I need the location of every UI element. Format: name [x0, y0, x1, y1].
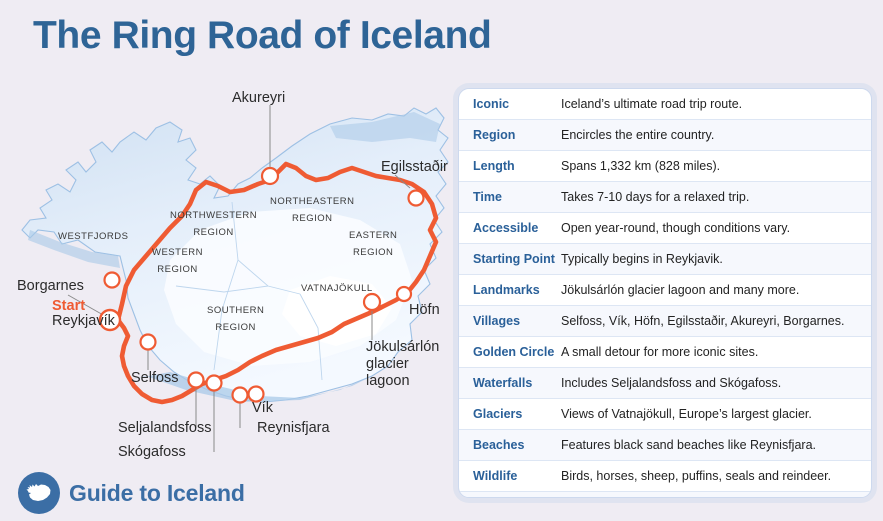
region-label-northwestern: NORTHWESTERN REGION — [170, 207, 257, 241]
row-value: A small detour for more iconic sites. — [561, 344, 871, 360]
table-row: Wildlife Birds, horses, sheep, puffins, … — [459, 461, 871, 492]
row-value: Spans 1,332 km (828 miles). — [561, 158, 871, 174]
row-key: Length — [459, 158, 561, 174]
table-row: Activities Glacier hiking, boat rides, i… — [459, 492, 871, 498]
row-value: Takes 7-10 days for a relaxed trip. — [561, 189, 871, 205]
region-label-westfjords: WESTFJORDS — [58, 228, 128, 245]
landmark-label-skogafoss: Skógafoss — [118, 444, 186, 460]
table-row: Beaches Features black sand beaches like… — [459, 430, 871, 461]
row-key: Villages — [459, 313, 561, 329]
landmark-label-seljalandsfoss: Seljalandsfoss — [118, 420, 212, 436]
table-row: Villages Selfoss, Vík, Höfn, Egilsstaðir… — [459, 306, 871, 337]
row-key: Region — [459, 127, 561, 143]
row-value: Typically begins in Reykjavik. — [561, 251, 871, 267]
row-key: Landmarks — [459, 282, 561, 298]
city-label-borgarnes: Borgarnes — [17, 278, 84, 294]
row-value: Iceland’s ultimate road trip route. — [561, 96, 871, 112]
row-value: Views of Vatnajökull, Europe’s largest g… — [561, 406, 871, 422]
logo-text: Guide to Iceland — [69, 480, 245, 507]
start-label: Start — [52, 298, 85, 314]
page-title: The Ring Road of Iceland — [33, 14, 491, 58]
table-row: Iconic Iceland’s ultimate road trip rout… — [459, 89, 871, 120]
row-key: Golden Circle — [459, 344, 561, 360]
region-label-southern: SOUTHERN REGION — [207, 302, 264, 336]
city-label-selfoss: Selfoss — [131, 370, 179, 386]
table-row: Length Spans 1,332 km (828 miles). — [459, 151, 871, 182]
table-row: Golden Circle A small detour for more ic… — [459, 337, 871, 368]
infographic-page: The Ring Road of Iceland — [0, 0, 883, 521]
row-key: Glaciers — [459, 406, 561, 422]
row-key: Starting Point — [459, 251, 561, 267]
city-label-hofn: Höfn — [409, 302, 440, 318]
region-label-western: WESTERN REGION — [152, 244, 203, 278]
row-value: Features black sand beaches like Reynisf… — [561, 437, 871, 453]
region-label-northeastern: NORTHEASTERN REGION — [270, 193, 354, 227]
city-label-vik: Vík — [252, 400, 273, 416]
row-key: Time — [459, 189, 561, 205]
info-table: Iconic Iceland’s ultimate road trip rout… — [458, 88, 872, 498]
table-row: Accessible Open year-round, though condi… — [459, 213, 871, 244]
row-value: Birds, horses, sheep, puffins, seals and… — [561, 468, 871, 484]
row-value: Encircles the entire country. — [561, 127, 871, 143]
iceland-map: WESTFJORDS NORTHWESTERN REGION NORTHEAST… — [0, 80, 455, 480]
row-value: Open year-round, though conditions vary. — [561, 220, 871, 236]
landmark-label-jokulsarlon: Jökulsárlón glacier lagoon — [366, 339, 439, 390]
city-label-reykjavik: Reykjavík — [52, 313, 115, 329]
row-value: Jökulsárlón glacier lagoon and many more… — [561, 282, 871, 298]
table-row: Starting Point Typically begins in Reykj… — [459, 244, 871, 275]
region-label-eastern: EASTERN REGION — [349, 227, 397, 261]
table-row: Region Encircles the entire country. — [459, 120, 871, 151]
iceland-silhouette-icon — [18, 472, 60, 514]
table-row: Glaciers Views of Vatnajökull, Europe’s … — [459, 399, 871, 430]
table-row: Time Takes 7-10 days for a relaxed trip. — [459, 182, 871, 213]
city-label-egilsstadir: Egilsstaðir — [381, 159, 448, 175]
landmark-label-reynisfjara: Reynisfjara — [257, 420, 330, 436]
brand-logo[interactable]: Guide to Iceland — [18, 472, 245, 514]
row-key: Waterfalls — [459, 375, 561, 391]
row-key: Iconic — [459, 96, 561, 112]
city-label-akureyri: Akureyri — [232, 90, 285, 106]
table-row: Landmarks Jökulsárlón glacier lagoon and… — [459, 275, 871, 306]
table-row: Waterfalls Includes Seljalandsfoss and S… — [459, 368, 871, 399]
row-key: Accessible — [459, 220, 561, 236]
row-value: Selfoss, Vík, Höfn, Egilsstaðir, Akureyr… — [561, 313, 871, 329]
row-key: Wildlife — [459, 468, 561, 484]
row-value: Includes Seljalandsfoss and Skógafoss. — [561, 375, 871, 391]
row-key: Beaches — [459, 437, 561, 453]
region-label-vatnajokull: VATNAJÖKULL — [301, 283, 373, 295]
